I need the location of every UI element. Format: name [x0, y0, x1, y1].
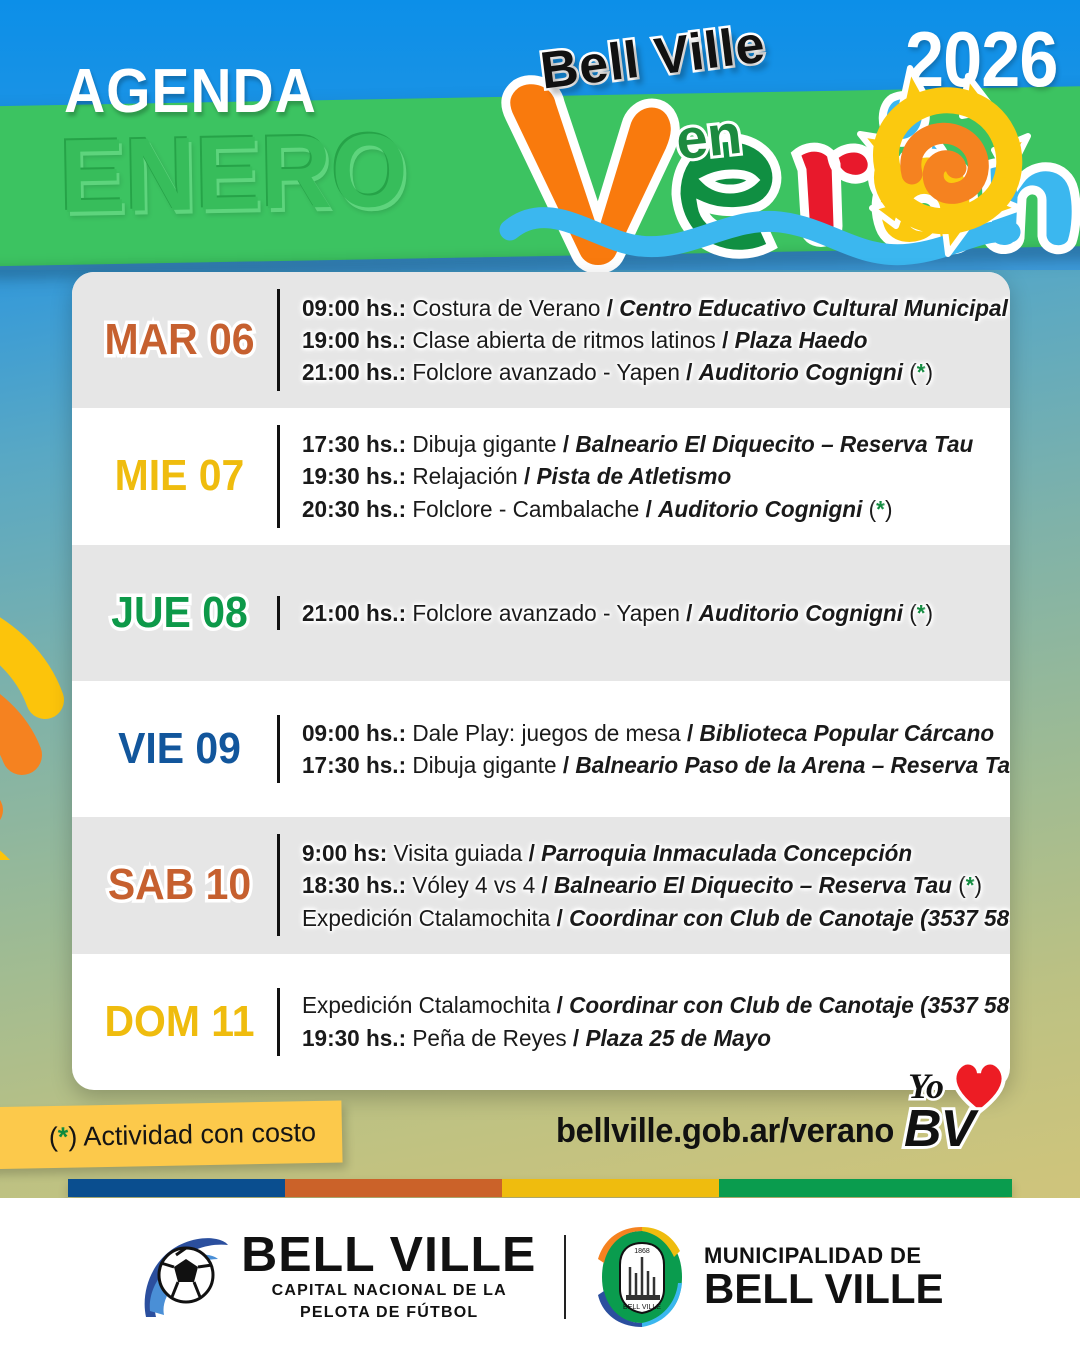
event-title: Visita guiada — [394, 840, 523, 866]
event-place: Plaza 25 de Mayo — [585, 1025, 771, 1051]
event-cost-marker: (*) — [958, 872, 982, 898]
day-label: MAR 06 — [89, 315, 270, 365]
event-item: 17:30 hs.: Dibuja gigante / Balneario Pa… — [302, 749, 1010, 781]
event-slash: / — [563, 752, 569, 778]
event-place: Balneario Paso de la Arena – Reserva Tau — [575, 752, 1010, 778]
logo-divider — [564, 1235, 566, 1319]
event-slash: / — [573, 1025, 579, 1051]
institutional-logos: BELL VILLE CAPITAL NACIONAL DE LA PELOTA… — [0, 1212, 1080, 1342]
day-label: VIE 09 — [89, 724, 270, 774]
event-title: Dibuja gigante — [412, 431, 556, 457]
day-label: SAB 10 — [89, 860, 270, 910]
event-list: 09:00 hs.: Dale Play: juegos de mesa / B… — [280, 717, 1010, 782]
event-title: Peña de Reyes — [412, 1025, 566, 1051]
event-list: 9:00 hs: Visita guiada / Parroquia Inmac… — [280, 837, 1010, 934]
event-slash: / — [686, 359, 692, 385]
event-time: 21:00 hs.: — [302, 359, 406, 385]
schedule-row-sab-10: SAB 109:00 hs: Visita guiada / Parroquia… — [72, 817, 1010, 953]
event-slash: / — [524, 463, 530, 489]
event-title: Dibuja gigante — [412, 752, 556, 778]
event-time: 20:30 hs.: — [302, 496, 406, 522]
event-slash: / — [557, 992, 563, 1018]
cost-note-badge: (*) Actividad con costo — [0, 1100, 343, 1169]
event-item: 18:30 hs.: Vóley 4 vs 4 / Balneario El D… — [302, 869, 1010, 901]
event-item: Expedición Ctalamochita / Coordinar con … — [302, 902, 1010, 934]
event-place: Coordinar con Club de Canotaje (3537 58-… — [569, 992, 1010, 1018]
schedule-row-dom-11: DOM 11Expedición Ctalamochita / Coordina… — [72, 954, 1010, 1090]
svg-text:1868: 1868 — [634, 1248, 650, 1255]
event-time: 19:00 hs.: — [302, 327, 406, 353]
brand-logo: Bell Ville en — [480, 6, 1080, 276]
event-cost-marker: (*) — [909, 600, 933, 626]
bv-futbol-title: BELL VILLE — [242, 1231, 537, 1280]
event-title: Folclore avanzado - Yapen — [412, 359, 680, 385]
schedule-row-mie-07: MIE 0717:30 hs.: Dibuja gigante / Balnea… — [72, 408, 1010, 544]
cost-note-text: Actividad con costo — [77, 1116, 316, 1151]
event-item: 20:30 hs.: Folclore - Cambalache / Audit… — [302, 493, 973, 525]
event-title: Costura de Verano — [412, 295, 600, 321]
color-bar-2 — [285, 1179, 502, 1197]
event-list: 17:30 hs.: Dibuja gigante / Balneario El… — [280, 428, 1001, 525]
event-item: 09:00 hs.: Dale Play: juegos de mesa / B… — [302, 717, 1010, 749]
event-slash: / — [607, 295, 613, 321]
city-crest-icon: 1868 BELL VILLE — [596, 1227, 688, 1327]
event-place: Centro Educativo Cultural Municipal — [619, 295, 1008, 321]
event-slash: / — [686, 600, 692, 626]
event-title: Relajación — [412, 463, 517, 489]
color-bar-3 — [502, 1179, 719, 1197]
cost-note: (*) Actividad con costo — [49, 1116, 317, 1152]
event-item: 19:30 hs.: Relajación / Pista de Atletis… — [302, 460, 973, 492]
month-label: ENERO — [59, 112, 409, 237]
event-item: 09:00 hs.: Costura de Verano / Centro Ed… — [302, 292, 1008, 324]
bell-ville-futbol-text: BELL VILLE CAPITAL NACIONAL DE LA PELOTA… — [244, 1231, 534, 1323]
schedule-row-mar-06: MAR 0609:00 hs.: Costura de Verano / Cen… — [72, 272, 1010, 408]
event-item: 17:30 hs.: Dibuja gigante / Balneario El… — [302, 428, 973, 460]
logo-en-text: en — [673, 101, 745, 172]
sun-icon — [852, 58, 1067, 273]
event-title: Clase abierta de ritmos latinos — [412, 327, 715, 353]
event-place: Coordinar con Club de Canotaje (3537 58-… — [569, 905, 1010, 931]
poster-canvas: AGENDA ENERO 2026 — [0, 0, 1080, 1350]
color-bar-1 — [68, 1179, 285, 1197]
schedule-card: MAR 0609:00 hs.: Costura de Verano / Cen… — [72, 272, 1010, 1090]
day-label: DOM 11 — [89, 997, 270, 1047]
svg-text:BELL VILLE: BELL VILLE — [623, 1304, 661, 1311]
day-label: JUE 08 — [89, 588, 270, 638]
event-time: 09:00 hs.: — [302, 720, 406, 746]
event-item: 21:00 hs.: Folclore avanzado - Yapen / A… — [302, 356, 1008, 388]
event-time: 9:00 hs: — [302, 840, 387, 866]
event-place: Pista de Atletismo — [537, 463, 732, 489]
event-time: 18:30 hs.: — [302, 872, 406, 898]
event-title: Folclore avanzado - Yapen — [412, 600, 680, 626]
bell-ville-futbol-logo: BELL VILLE CAPITAL NACIONAL DE LA PELOTA… — [136, 1229, 534, 1325]
bv-label: BV — [904, 1099, 974, 1159]
event-title: Expedición Ctalamochita — [302, 905, 550, 931]
event-place: Parroquia Inmaculada Concepción — [541, 840, 912, 866]
event-time: 17:30 hs.: — [302, 752, 406, 778]
event-item: 9:00 hs: Visita guiada / Parroquia Inmac… — [302, 837, 1010, 869]
schedule-row-jue-08: JUE 0821:00 hs.: Folclore avanzado - Yap… — [72, 545, 1010, 681]
event-slash: / — [563, 431, 569, 457]
event-slash: / — [529, 840, 535, 866]
event-title: Dale Play: juegos de mesa — [412, 720, 680, 746]
event-title: Expedición Ctalamochita — [302, 992, 550, 1018]
event-place: Biblioteca Popular Cárcano — [700, 720, 995, 746]
event-slash: / — [557, 905, 563, 931]
event-time: 09:00 hs.: — [302, 295, 406, 321]
color-bar-4 — [719, 1179, 1012, 1197]
color-bars — [68, 1179, 1012, 1197]
event-place: Auditorio Cognigni — [699, 359, 903, 385]
event-time: 19:30 hs.: — [302, 463, 406, 489]
event-slash: / — [542, 872, 548, 898]
event-place: Balneario El Diquecito – Reserva Tau — [575, 431, 973, 457]
event-time: 17:30 hs.: — [302, 431, 406, 457]
event-item: Expedición Ctalamochita / Coordinar con … — [302, 989, 1010, 1021]
municipalidad-logo: 1868 BELL VILLE MUNICIPALIDAD DE BELL VI… — [596, 1227, 944, 1327]
event-slash: / — [646, 496, 652, 522]
event-time: 21:00 hs.: — [302, 600, 406, 626]
bv-futbol-sub2: PELOTA DE FÚTBOL — [300, 1302, 478, 1324]
municipalidad-text: MUNICIPALIDAD DE BELL VILLE — [704, 1244, 944, 1310]
event-item: 21:00 hs.: Folclore avanzado - Yapen / A… — [302, 597, 966, 629]
event-place: Plaza Haedo — [735, 327, 868, 353]
event-place: Auditorio Cognigni — [658, 496, 862, 522]
website-url[interactable]: bellville.gob.ar/verano — [556, 1112, 894, 1151]
event-slash: / — [722, 327, 728, 353]
event-place: Auditorio Cognigni — [699, 600, 903, 626]
event-title: Folclore - Cambalache — [412, 496, 639, 522]
event-place: Balneario El Diquecito – Reserva Tau — [554, 872, 952, 898]
bv-futbol-sub1: CAPITAL NACIONAL DE LA — [272, 1280, 507, 1302]
event-item: 19:00 hs.: Clase abierta de ritmos latin… — [302, 324, 1008, 356]
muni-main-label: BELL VILLE — [704, 1268, 944, 1310]
event-title: Vóley 4 vs 4 — [412, 872, 535, 898]
event-list: 21:00 hs.: Folclore avanzado - Yapen / A… — [280, 597, 994, 629]
event-time: 19:30 hs.: — [302, 1025, 406, 1051]
yo-amo-bv-logo: Yo BV — [900, 1055, 1010, 1160]
event-cost-marker: (*) — [869, 496, 893, 522]
day-label: MIE 07 — [89, 451, 270, 501]
event-cost-marker: (*) — [909, 359, 933, 385]
event-list: Expedición Ctalamochita / Coordinar con … — [280, 989, 1010, 1054]
soccer-ball-icon — [136, 1229, 232, 1325]
event-list: 09:00 hs.: Costura de Verano / Centro Ed… — [280, 292, 1010, 389]
event-slash: / — [687, 720, 693, 746]
event-item: 19:30 hs.: Peña de Reyes / Plaza 25 de M… — [302, 1022, 1010, 1054]
schedule-row-vie-09: VIE 0909:00 hs.: Dale Play: juegos de me… — [72, 681, 1010, 817]
